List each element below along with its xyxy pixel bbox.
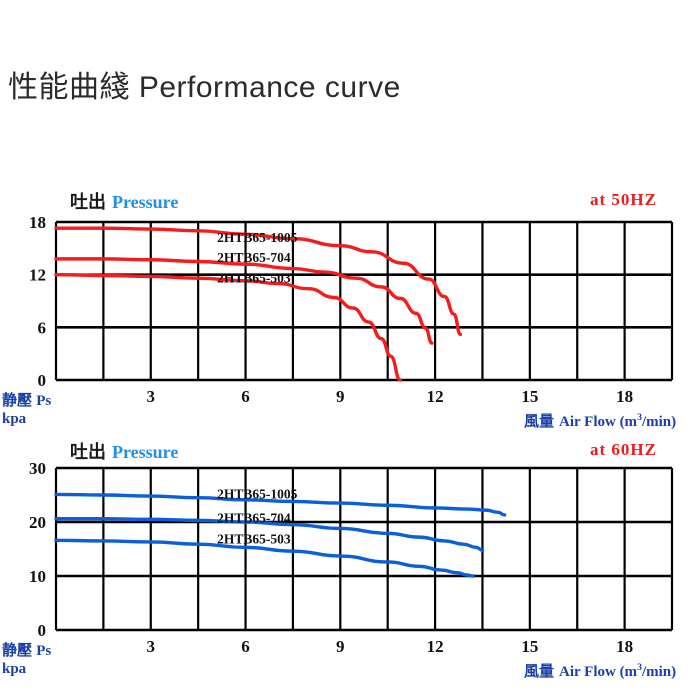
x-tick-label: 12 — [427, 637, 444, 656]
x-axis-caption-cjk-60hz: 風量 — [524, 662, 554, 680]
y-axis-caption-cjk: 静壓 — [2, 391, 32, 409]
x-tick-label: 15 — [521, 387, 538, 406]
x-tick-label: 9 — [336, 637, 345, 656]
x-tick-label: 9 — [336, 387, 345, 406]
x-tick-label: 12 — [427, 387, 444, 406]
x-tick-label: 18 — [616, 637, 633, 656]
tick-labels-50hz: 061218369121518 — [29, 213, 633, 406]
y-tick-label: 30 — [29, 459, 46, 478]
series-label-2HTB65-503: 2HTB65-503 — [217, 270, 291, 285]
chart-50hz: 吐出Pressure at 50HZ 061218369121518 2HTB6… — [0, 190, 700, 440]
y-axis-caption-unit: kpa — [2, 411, 26, 427]
y-tick-label: 12 — [29, 266, 46, 285]
series-label-2HTB65-503: 2HTB65-503 — [217, 532, 291, 547]
x-tick-label: 18 — [616, 387, 633, 406]
y-tick-label: 18 — [29, 213, 46, 232]
y-tick-label: 0 — [38, 621, 47, 640]
x-tick-label: 3 — [147, 387, 156, 406]
x-axis-caption-en-60hz: Air Flow (m — [559, 664, 637, 680]
x-axis-caption-en2: /min) — [642, 414, 676, 430]
y-axis-caption-ps: Ps — [36, 393, 51, 409]
y-axis-caption-cjk-60hz: 静壓 — [2, 641, 32, 659]
y-axis-caption-unit-60hz: kpa — [2, 661, 26, 677]
series-label-2HTB65-704: 2HTB65-704 — [217, 511, 291, 526]
x-axis-caption-en: Air Flow (m — [559, 414, 637, 430]
chart-60hz: 吐出Pressure at 60HZ 0102030369121518 2HTB… — [0, 430, 700, 690]
x-tick-label: 3 — [147, 637, 156, 656]
series-label-2HTB65-1005: 2HTB65-1005 — [217, 230, 298, 245]
x-axis-caption-50hz: 風量Air Flow (m3/min) — [524, 410, 676, 431]
y-axis-caption-60hz: 静壓 Ps kpa — [2, 642, 51, 678]
x-tick-label: 15 — [521, 637, 538, 656]
grid-50hz — [56, 222, 672, 380]
grid-60hz — [56, 468, 672, 630]
x-axis-caption-cjk: 風量 — [524, 412, 554, 430]
series-labels-50hz: 2HTB65-10052HTB65-7042HTB65-503 — [217, 230, 298, 285]
y-tick-label: 0 — [38, 371, 47, 390]
page-title: 性能曲綫 Performance curve — [8, 62, 401, 106]
series-labels-60hz: 2HTB65-10052HTB65-7042HTB65-503 — [217, 486, 298, 546]
series-label-2HTB65-704: 2HTB65-704 — [217, 250, 291, 265]
y-tick-label: 20 — [29, 513, 46, 532]
y-axis-caption-ps-60hz: Ps — [36, 643, 51, 659]
series-label-2HTB65-1005: 2HTB65-1005 — [217, 486, 298, 501]
chart-canvas-50hz: 061218369121518 2HTB65-10052HTB65-7042HT… — [0, 190, 700, 440]
tick-labels-60hz: 0102030369121518 — [29, 459, 633, 656]
y-tick-label: 6 — [38, 318, 47, 337]
x-axis-caption-60hz: 風量Air Flow (m3/min) — [524, 660, 676, 681]
x-axis-caption-en2-60hz: /min) — [642, 664, 676, 680]
y-axis-caption-50hz: 静壓 Ps kpa — [2, 392, 51, 428]
chart-canvas-60hz: 0102030369121518 2HTB65-10052HTB65-7042H… — [0, 430, 700, 690]
x-tick-label: 6 — [241, 637, 250, 656]
y-tick-label: 10 — [29, 567, 46, 586]
x-tick-label: 6 — [241, 387, 250, 406]
